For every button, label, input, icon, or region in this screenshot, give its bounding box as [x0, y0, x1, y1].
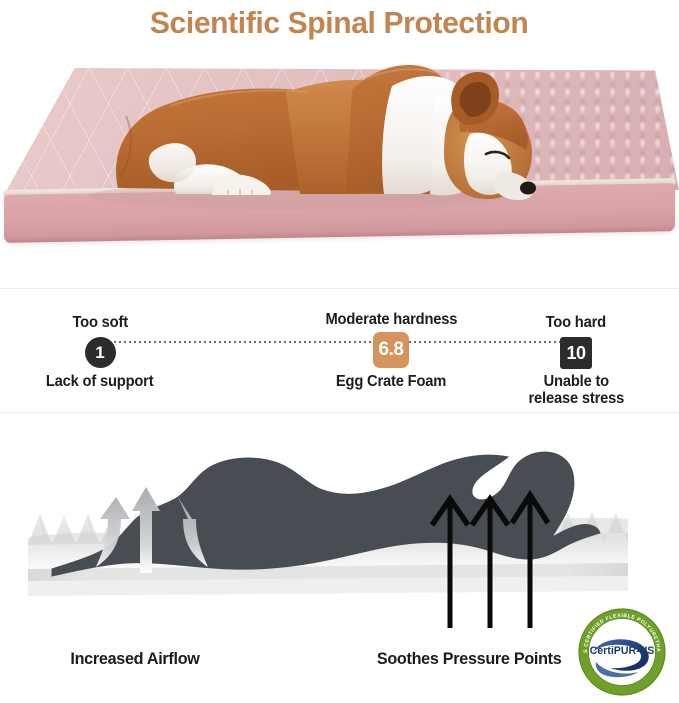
- increased-airflow-label: Increased Airflow: [70, 649, 199, 669]
- header: Scientific Spinal Protection: [0, 0, 679, 46]
- scale-marker-too-hard: Too hard 10 Unable to release stress: [512, 314, 640, 407]
- scale-marker-moderate: Moderate hardness 6.8 Egg Crate Foam: [296, 311, 486, 390]
- certipur-us-badge: CONTAINS CERTIFIED FLEXIBLE POLYURETHANE…: [576, 606, 668, 686]
- egg-crate-foam-label: Egg Crate Foam: [336, 373, 446, 390]
- unable-to-release-stress-label: Unable to release stress: [528, 373, 624, 407]
- unable-line-2: release stress: [528, 390, 624, 407]
- unable-line-1: Unable to: [543, 373, 608, 390]
- too-hard-label: Too hard: [546, 314, 606, 332]
- certipur-brand-text: CertiPUR-US: [590, 645, 655, 657]
- lack-of-support-label: Lack of support: [46, 373, 154, 390]
- hardness-scale: Too soft 1 Lack of support Moderate hard…: [0, 289, 679, 412]
- scale-value-1-badge: 1: [85, 337, 116, 368]
- scale-value-68-badge: 6.8: [373, 332, 409, 368]
- soothes-pressure-points-label: Soothes Pressure Points: [377, 649, 562, 669]
- scale-marker-too-soft: Too soft 1 Lack of support: [28, 314, 172, 390]
- moderate-hardness-label: Moderate hardness: [325, 311, 457, 329]
- scale-value-10-badge: 10: [560, 337, 592, 369]
- pressure-arrows: [432, 495, 548, 628]
- page-title: Scientific Spinal Protection: [150, 5, 528, 41]
- too-soft-label: Too soft: [72, 314, 127, 332]
- corgi-dog-image: [0, 46, 679, 288]
- product-photo: BEDSURE: [0, 46, 679, 288]
